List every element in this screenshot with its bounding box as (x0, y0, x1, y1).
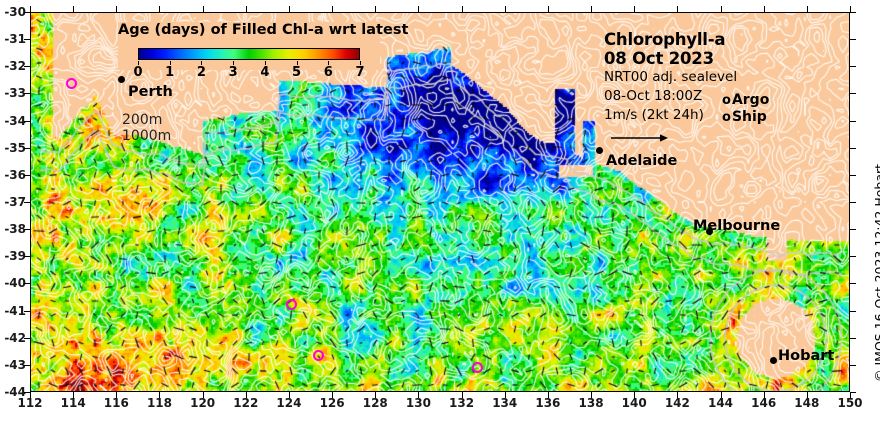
x-axis-tick-label: 128 (363, 396, 388, 410)
x-axis-tickmark-top (764, 6, 765, 12)
x-axis-tickmark (375, 392, 376, 398)
x-axis-tickmark (677, 392, 678, 398)
x-axis-tickmark-top (375, 6, 376, 12)
colorbar-gradient (138, 48, 360, 60)
y-axis-tick-label: -37 (4, 195, 26, 209)
x-axis-tick-label: 148 (794, 396, 819, 410)
x-axis-tick-label: 140 (622, 396, 647, 410)
x-axis-tick-label: 146 (751, 396, 776, 410)
x-axis-tickmark (591, 392, 592, 398)
x-axis-tickmark-top (418, 6, 419, 12)
city-marker-dot (118, 76, 125, 83)
plot-title-date: 08 Oct 2023 (604, 49, 780, 68)
ship-marker-icon: o (722, 111, 731, 124)
y-axis-tick-label: -41 (4, 304, 26, 318)
argo-float-marker[interactable] (472, 362, 483, 373)
x-axis-tick-label: 142 (665, 396, 690, 410)
plot-title-line1: Chlorophyll-a (604, 30, 780, 49)
colorbar-tick-label: 0 (133, 65, 142, 80)
colorbar-title: Age (days) of Filled Chl-a wrt latest (118, 22, 380, 39)
legend-row-ship: o Ship (722, 109, 808, 126)
argo-float-marker[interactable] (286, 299, 297, 310)
x-axis-tickmark-top (807, 6, 808, 12)
x-axis-tick-label: 122 (233, 396, 258, 410)
x-axis-tickmark (418, 392, 419, 398)
y-axis-tick-label: -33 (4, 86, 26, 100)
y-axis-tickmark (24, 66, 30, 67)
y-axis-tickmark-right (850, 202, 856, 203)
y-axis-tickmark (24, 256, 30, 257)
x-axis-tick-label: 120 (190, 396, 215, 410)
product-name: NRT00 adj. sealevel (604, 68, 780, 87)
x-axis-tickmark-top (289, 6, 290, 12)
y-axis-tickmark-right (850, 338, 856, 339)
x-axis-tickmark-top (721, 6, 722, 12)
x-axis-tickmark-top (591, 6, 592, 12)
y-axis-tick-label: -40 (4, 276, 26, 290)
colorbar-panel: Age (days) of Filled Chl-a wrt latest 01… (118, 22, 380, 70)
y-axis-tick-label: -42 (4, 331, 26, 345)
x-axis-tickmark (159, 392, 160, 398)
x-axis-tickmark-top (30, 6, 31, 12)
y-axis-tickmark (24, 229, 30, 230)
y-axis-tick-label: -35 (4, 141, 26, 155)
bathymetry-label: 1000m (122, 128, 171, 144)
x-axis-tickmark (548, 392, 549, 398)
bathymetry-label: 200m (122, 112, 162, 128)
y-axis-tickmark (24, 121, 30, 122)
y-axis-tickmark-right (850, 175, 856, 176)
y-axis-tick-label: -31 (4, 32, 26, 46)
y-axis-tickmark-right (850, 121, 856, 122)
y-axis-tickmark (24, 311, 30, 312)
city-marker-dot (596, 147, 603, 154)
colorbar-tick-label: 5 (292, 65, 301, 80)
colorbar-tick-label: 7 (355, 65, 364, 80)
y-axis-tickmark-right (850, 12, 856, 13)
x-axis-tickmark-top (246, 6, 247, 12)
x-axis-tick-label: 114 (61, 396, 86, 410)
marker-legend: o Argo o Ship (722, 92, 808, 126)
x-axis-tickmark (764, 392, 765, 398)
x-axis-tick-label: 116 (104, 396, 129, 410)
x-axis-tickmark (332, 392, 333, 398)
x-axis-tick-label: 130 (406, 396, 431, 410)
imos-ocean-current-map: Age (days) of Filled Chl-a wrt latest 01… (0, 0, 880, 425)
y-axis-tick-label: -39 (4, 249, 26, 263)
copyright-credit: © IMOS 16-Oct-2023 12:42 Hobart (872, 112, 880, 382)
x-axis-tick-label: 144 (708, 396, 733, 410)
y-axis-tick-label: -34 (4, 114, 26, 128)
colorbar-tick-label: 6 (324, 65, 333, 80)
y-axis-tickmark-right (850, 283, 856, 284)
y-axis-tickmark (24, 283, 30, 284)
x-axis-tickmark-top (332, 6, 333, 12)
x-axis-tickmark (462, 392, 463, 398)
y-axis-tickmark-right (850, 365, 856, 366)
x-axis-tickmark-top (548, 6, 549, 12)
x-axis-tick-label: 132 (449, 396, 474, 410)
x-axis-tickmark (807, 392, 808, 398)
x-axis-tick-label: 138 (579, 396, 604, 410)
x-axis-tick-label: 126 (320, 396, 345, 410)
y-axis-tick-label: -44 (4, 385, 26, 399)
y-axis-tick-label: -43 (4, 358, 26, 372)
y-axis-tickmark (24, 12, 30, 13)
y-axis-tickmark (24, 365, 30, 366)
y-axis-tickmark (24, 93, 30, 94)
legend-label-argo: Argo (732, 92, 769, 109)
x-axis-tick-label: 150 (837, 396, 862, 410)
y-axis-tickmark-right (850, 39, 856, 40)
y-axis-tick-label: -36 (4, 168, 26, 182)
city-label-hobart: Hobart (778, 348, 834, 364)
colorbar-tick-label: 4 (260, 65, 269, 80)
y-axis-tickmark (24, 148, 30, 149)
argo-float-marker[interactable] (313, 350, 324, 361)
x-axis-tickmark (505, 392, 506, 398)
colorbar-tick-label: 3 (229, 65, 238, 80)
x-axis-tickmark (73, 392, 74, 398)
legend-label-ship: Ship (732, 109, 767, 126)
city-label-perth: Perth (128, 84, 173, 100)
city-marker-dot (770, 357, 777, 364)
y-axis-tickmark (24, 39, 30, 40)
x-axis-tickmark (30, 392, 31, 398)
x-axis-tickmark (116, 392, 117, 398)
y-axis-tick-label: -38 (4, 222, 26, 236)
y-axis-tickmark (24, 175, 30, 176)
x-axis-tickmark (246, 392, 247, 398)
x-axis-tick-label: 136 (535, 396, 560, 410)
y-axis-tickmark-right (850, 229, 856, 230)
x-axis-tickmark-top (677, 6, 678, 12)
x-axis-tick-label: 118 (147, 396, 172, 410)
y-axis-tickmark (24, 338, 30, 339)
city-label-melbourne: Melbourne (693, 218, 780, 234)
legend-row-argo: o Argo (722, 92, 808, 109)
y-axis-tickmark-right (850, 311, 856, 312)
x-axis-tickmark (634, 392, 635, 398)
x-axis-tickmark (721, 392, 722, 398)
city-label-adelaide: Adelaide (606, 153, 677, 169)
y-axis-tick-label: -32 (4, 59, 26, 73)
x-axis-tickmark-top (73, 6, 74, 12)
x-axis-tickmark-top (462, 6, 463, 12)
x-axis-tickmark (203, 392, 204, 398)
x-axis-tickmark-top (116, 6, 117, 12)
argo-float-marker[interactable] (66, 78, 77, 89)
y-axis-tick-label: -30 (4, 5, 26, 19)
y-axis-tickmark (24, 392, 30, 393)
y-axis-tickmark-right (850, 93, 856, 94)
colorbar-tick-label: 2 (197, 65, 206, 80)
x-axis-tickmark-top (505, 6, 506, 12)
colorbar-tick-label: 1 (165, 65, 174, 80)
x-axis-tickmark (289, 392, 290, 398)
x-axis-tick-label: 134 (492, 396, 517, 410)
x-axis-tick-label: 124 (276, 396, 301, 410)
vector-scale-arrow (610, 128, 680, 138)
y-axis-tickmark-right (850, 148, 856, 149)
argo-marker-icon: o (722, 94, 731, 107)
x-axis-tickmark-top (634, 6, 635, 12)
x-axis-tickmark-top (203, 6, 204, 12)
y-axis-tickmark (24, 202, 30, 203)
y-axis-tickmark-right (850, 66, 856, 67)
y-axis-tickmark-right (850, 392, 856, 393)
x-axis-tickmark-top (159, 6, 160, 12)
y-axis-tickmark-right (850, 256, 856, 257)
